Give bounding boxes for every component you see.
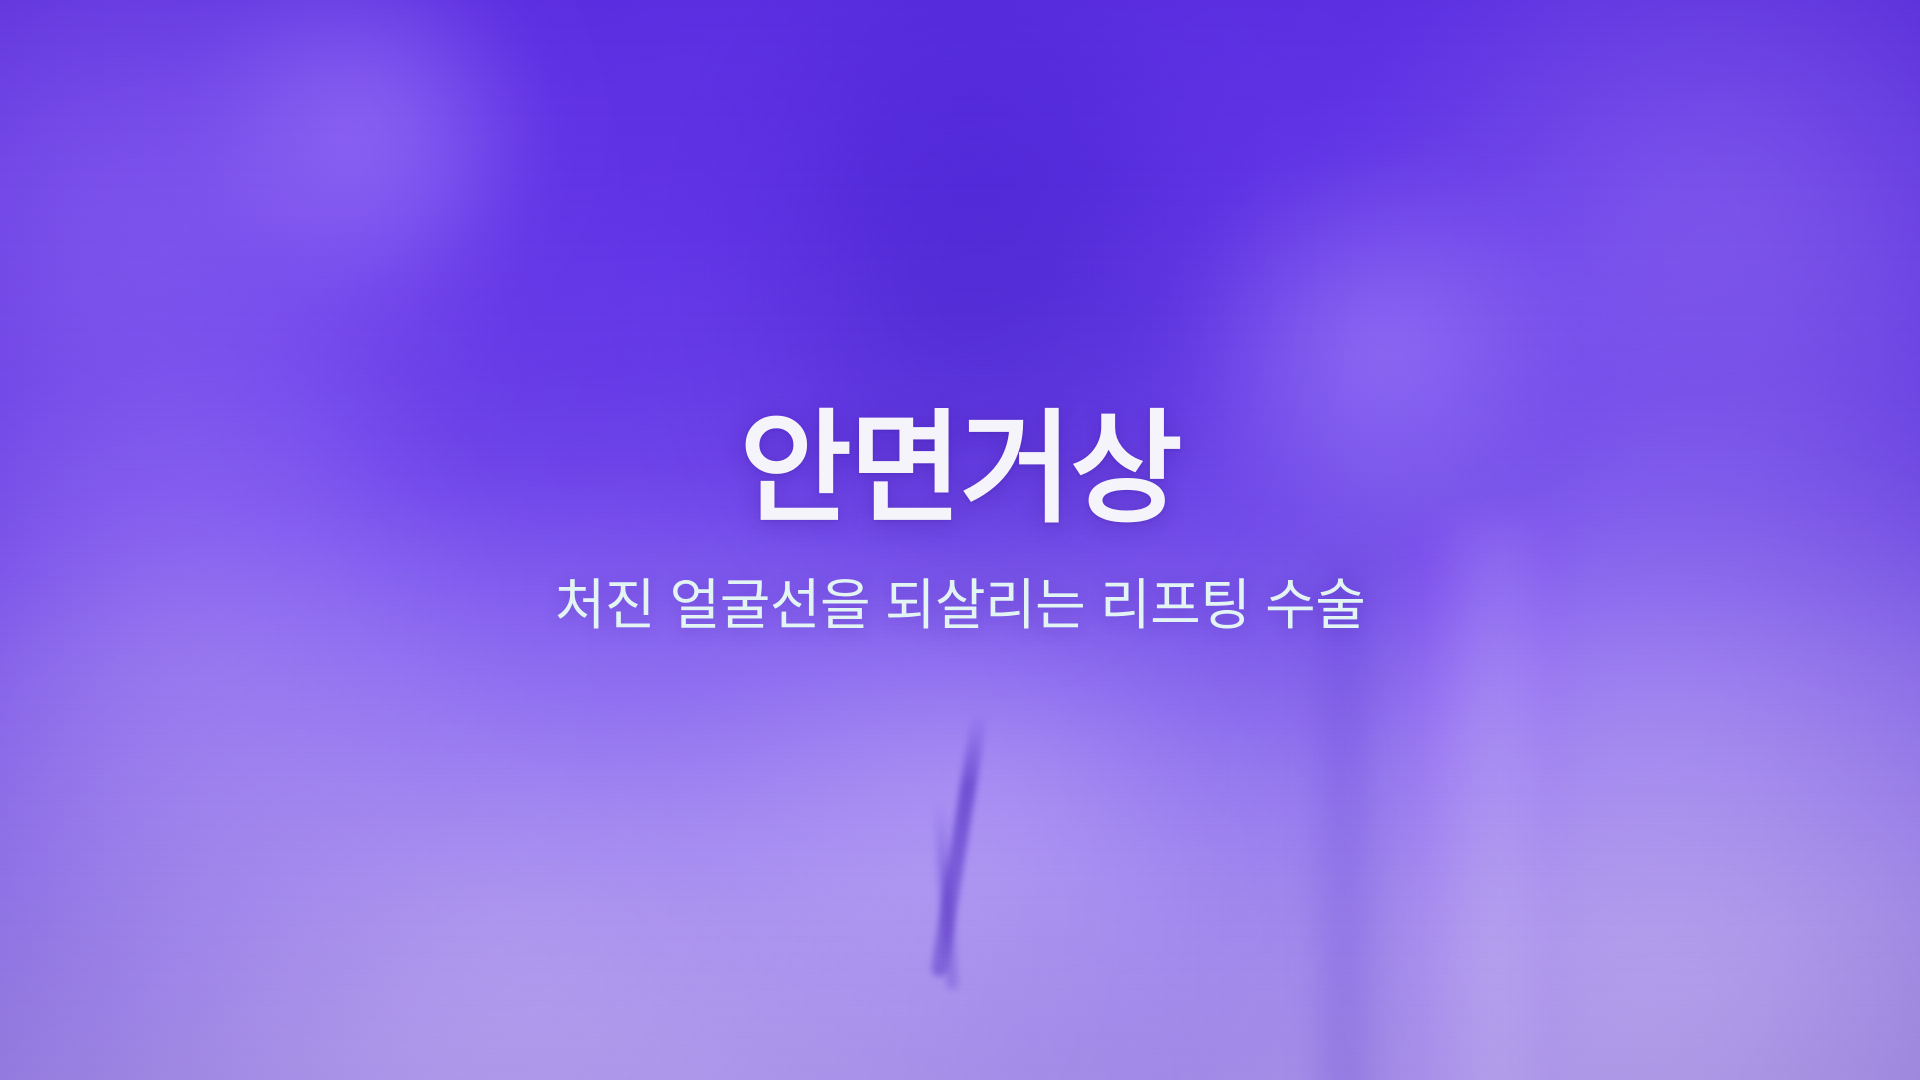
hero-content: 안면거상 처진 얼굴선을 되살리는 리프팅 수술 xyxy=(0,0,1920,1080)
page-title: 안면거상 xyxy=(740,408,1181,530)
hero-banner: 안면거상 처진 얼굴선을 되살리는 리프팅 수술 xyxy=(0,0,1920,1080)
page-subtitle: 처진 얼굴선을 되살리는 리프팅 수술 xyxy=(555,574,1366,637)
